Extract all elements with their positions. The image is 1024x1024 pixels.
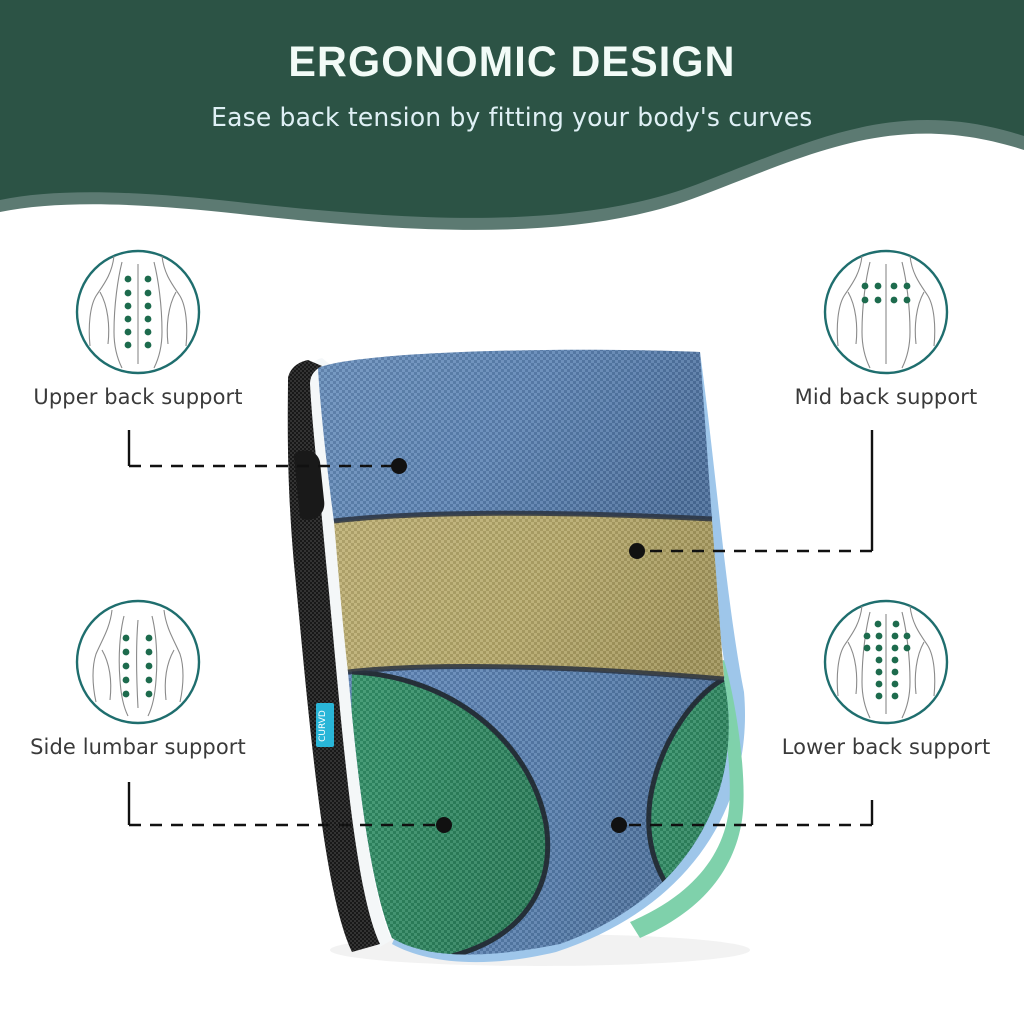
back-torso-dots-icon — [822, 248, 950, 376]
back-torso-dots-icon — [74, 598, 202, 726]
brand-tag-text: CURVD — [318, 710, 328, 742]
callout-label-mid-back: Mid back support — [756, 386, 1016, 410]
callout-side-lumbar[interactable]: Side lumbar support — [8, 598, 268, 760]
callout-label-side-lumbar: Side lumbar support — [8, 736, 268, 760]
brand-tag: CURVD — [316, 703, 334, 747]
icon-circle-wrap — [756, 598, 1016, 726]
icon-circle-wrap — [8, 248, 268, 376]
back-torso-dots-icon — [74, 248, 202, 376]
back-torso-dots-icon — [822, 598, 950, 726]
callout-mid-back[interactable]: Mid back support — [756, 248, 1016, 410]
icon-circle-wrap — [756, 248, 1016, 376]
callout-label-upper-back: Upper back support — [8, 386, 268, 410]
callout-label-lower-back: Lower back support — [756, 736, 1016, 760]
infographic-canvas: ERGONOMIC DESIGN Ease back tension by fi… — [0, 0, 1024, 1024]
callout-upper-back[interactable]: Upper back support — [8, 248, 268, 410]
callout-lower-back[interactable]: Lower back support — [756, 598, 1016, 760]
icon-circle-wrap — [8, 598, 268, 726]
product-illustration: CURVD — [0, 0, 1024, 1024]
